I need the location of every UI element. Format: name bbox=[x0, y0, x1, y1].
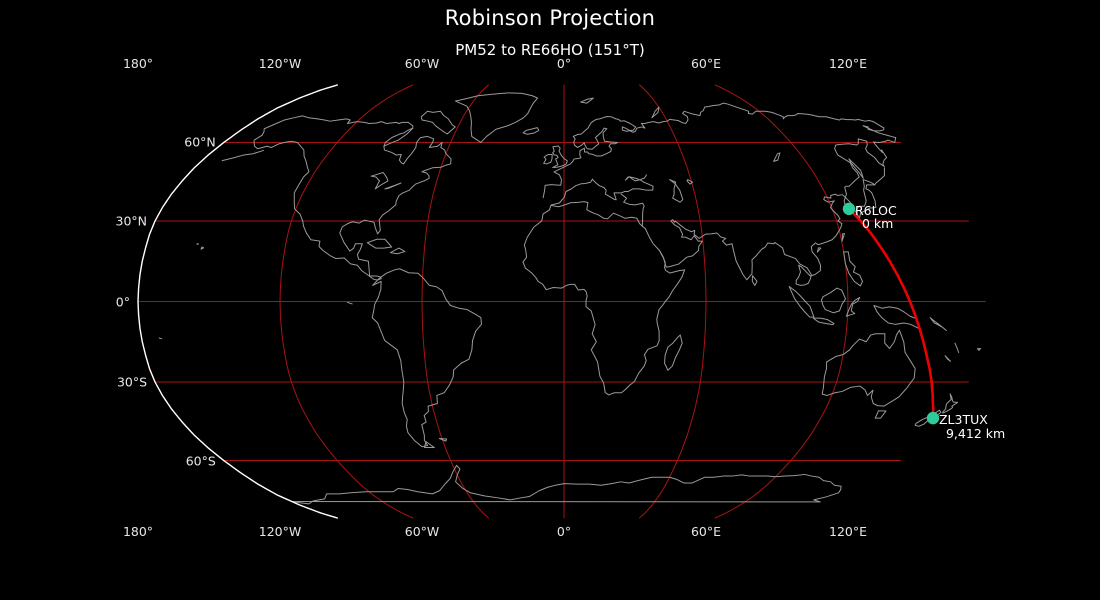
station-label-zl3tux: ZL3TUX9,412 km bbox=[939, 413, 1005, 440]
lon-label-bottom-3: 180° bbox=[123, 524, 153, 539]
coastline-segment-9 bbox=[384, 128, 413, 146]
coastline-segment-10 bbox=[421, 111, 455, 134]
lat-label-4: 60°S bbox=[0, 453, 216, 468]
graticule-group bbox=[138, 85, 985, 518]
coastline-segment-42 bbox=[201, 247, 204, 249]
coastline-segment-27 bbox=[390, 248, 405, 254]
robinson-map-canvas bbox=[0, 0, 1100, 600]
coastline-segment-48 bbox=[159, 338, 161, 339]
lon-label-bottom-5: 60°W bbox=[405, 524, 440, 539]
station-distance: 9,412 km bbox=[946, 427, 1005, 441]
lon-label-top-2: 120°E bbox=[829, 56, 867, 71]
lon-label-bottom-1: 60°E bbox=[691, 524, 721, 539]
station-label-r6loc: R6LOC0 km bbox=[855, 204, 897, 231]
coastline-segment-11 bbox=[372, 269, 481, 447]
station-callsign: ZL3TUX bbox=[939, 413, 1005, 427]
coastline-segment-28 bbox=[652, 107, 659, 118]
coastline-segment-25 bbox=[752, 276, 757, 286]
coastline-segment-31 bbox=[817, 248, 821, 252]
coastline-segment-24 bbox=[665, 335, 683, 370]
coastline-segment-30 bbox=[842, 234, 844, 242]
coastline-segment-0 bbox=[523, 202, 685, 395]
coastline-segment-3 bbox=[621, 194, 644, 226]
coastline-segment-6 bbox=[523, 128, 539, 135]
lon-label-bottom-0: 0° bbox=[557, 524, 571, 539]
coastline-segment-43 bbox=[197, 244, 198, 245]
station-marker-r6loc[interactable] bbox=[843, 203, 855, 215]
coastline-segment-47 bbox=[955, 343, 959, 352]
map-figure: Robinson Projection PM52 to RE66HO (151°… bbox=[0, 0, 1100, 600]
lon-label-top-0: 0° bbox=[557, 56, 571, 71]
lon-label-bottom-4: 120°W bbox=[259, 524, 301, 539]
station-markers bbox=[843, 203, 939, 425]
coastline-group bbox=[159, 93, 980, 504]
coastline-segment-16 bbox=[813, 318, 834, 324]
coastline-segment-41 bbox=[977, 348, 980, 350]
coastline-segment-44 bbox=[930, 318, 946, 331]
lat-label-0: 60°N bbox=[0, 135, 216, 150]
coastline-segment-40 bbox=[945, 356, 950, 362]
coastline-segment-29 bbox=[581, 98, 594, 103]
coastline-segment-12 bbox=[822, 330, 915, 406]
lon-label-bottom-2: 120°E bbox=[829, 524, 867, 539]
coastline-segment-7 bbox=[455, 93, 537, 143]
coastline-segment-38 bbox=[371, 173, 388, 189]
coastline-segment-37 bbox=[687, 180, 693, 184]
coastline-segment-14 bbox=[821, 288, 845, 313]
station-distance: 0 km bbox=[862, 217, 897, 231]
coastline-segment-1 bbox=[543, 103, 896, 285]
coastline-segment-32 bbox=[875, 411, 886, 418]
coastline-segment-35 bbox=[670, 180, 683, 203]
coastline-segment-39 bbox=[385, 183, 401, 189]
coastline-segment-23 bbox=[292, 465, 841, 504]
coastline-segment-49 bbox=[347, 302, 352, 304]
coastline-segment-45 bbox=[875, 168, 884, 184]
station-callsign: R6LOC bbox=[855, 204, 897, 218]
lon-label-top-1: 60°E bbox=[691, 56, 721, 71]
coastline-segment-26 bbox=[367, 239, 391, 248]
lat-label-1: 30°N bbox=[0, 213, 147, 228]
lat-label-3: 30°S bbox=[0, 375, 147, 390]
coastline-segment-2 bbox=[552, 175, 653, 205]
coastline-segment-20 bbox=[849, 159, 863, 178]
lon-label-top-5: 60°W bbox=[405, 56, 440, 71]
coastline-segment-21 bbox=[943, 394, 958, 413]
coastline-segment-46 bbox=[222, 150, 263, 160]
lon-label-top-3: 180° bbox=[123, 56, 153, 71]
coastline-segment-36 bbox=[774, 153, 780, 161]
coastline-segment-34 bbox=[424, 442, 434, 448]
coastline-segment-5 bbox=[544, 154, 552, 163]
lon-label-top-4: 120°W bbox=[259, 56, 301, 71]
lat-label-2: 0° bbox=[0, 294, 130, 309]
station-marker-zl3tux[interactable] bbox=[927, 412, 939, 424]
coastline-segment-4 bbox=[553, 146, 568, 168]
